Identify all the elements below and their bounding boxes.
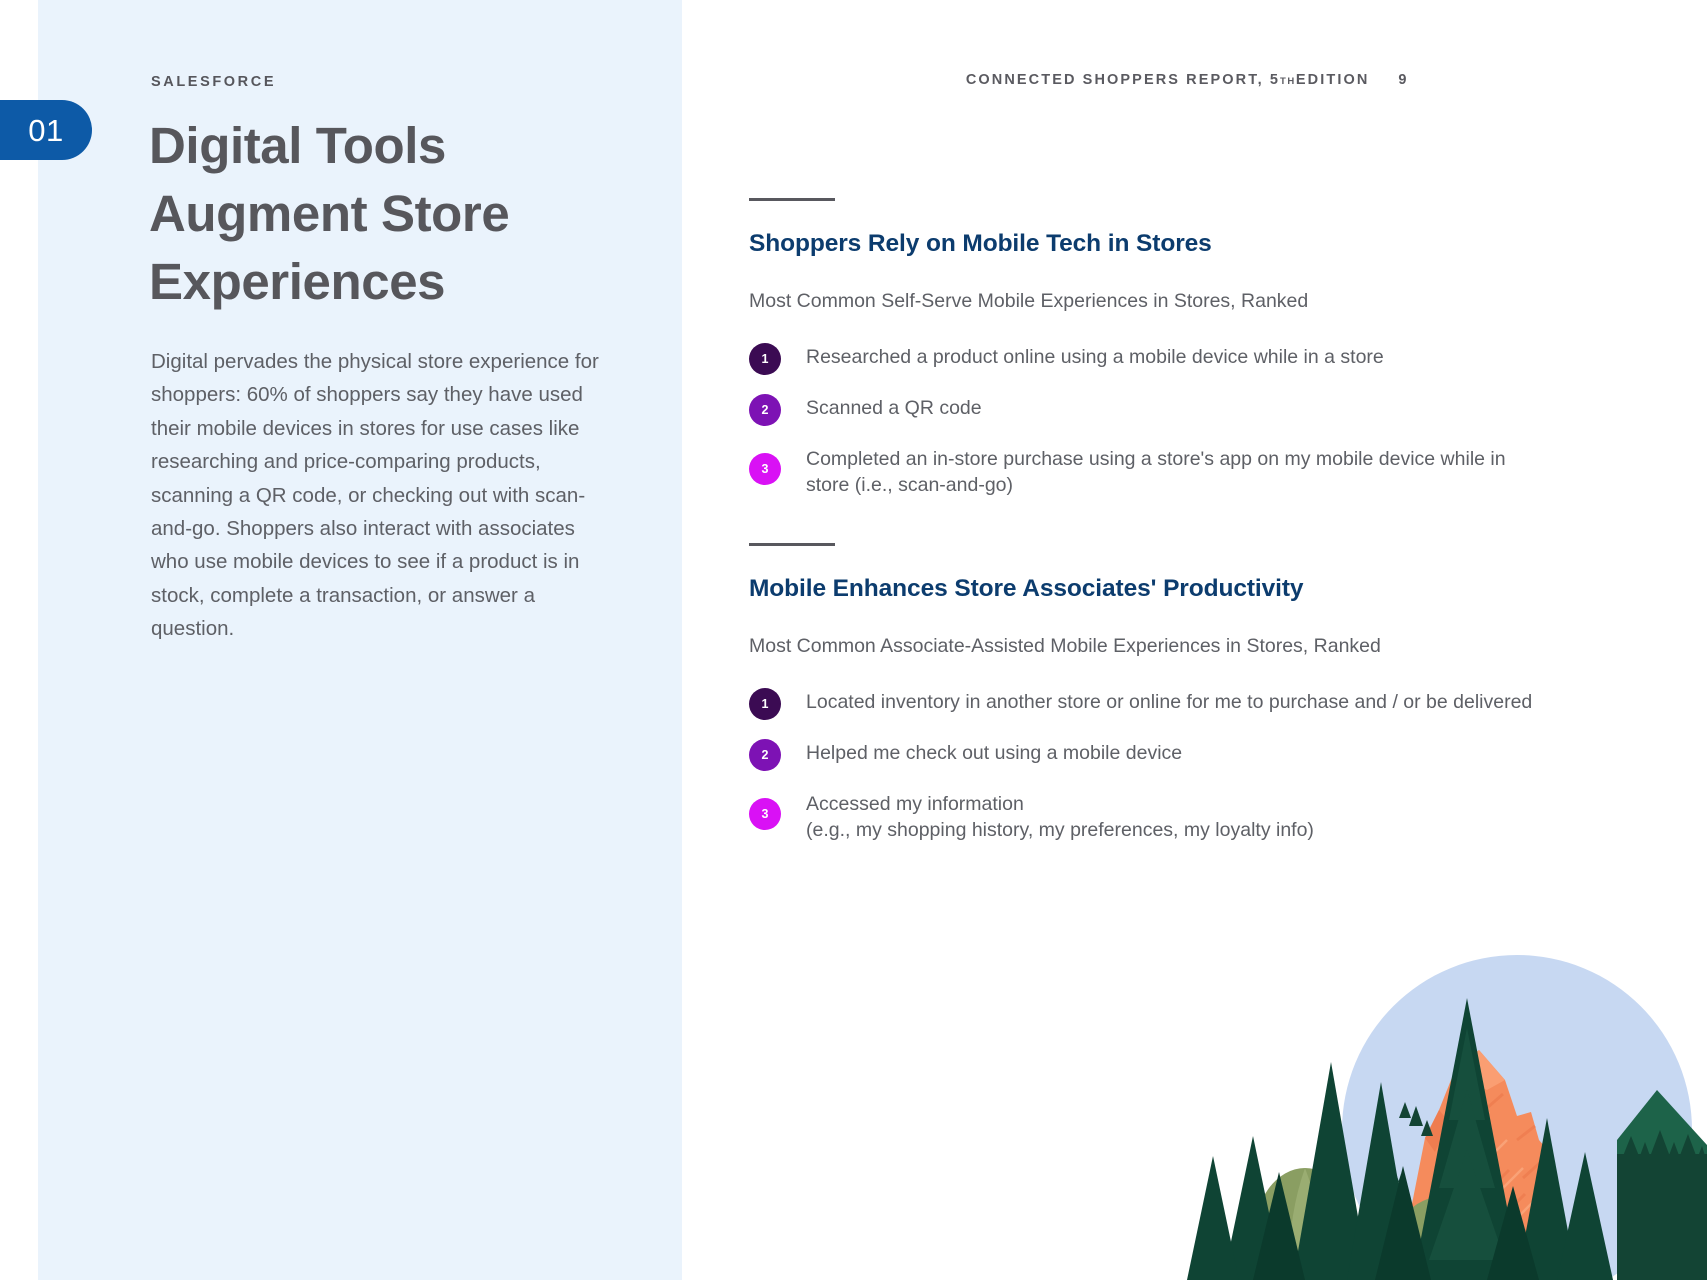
rank-badge: 2 (749, 739, 781, 771)
ordinal-suffix: TH (1280, 76, 1296, 87)
orange-rock-formation (1397, 1050, 1571, 1280)
list-item-label: Scanned a QR code (806, 393, 982, 421)
chapter-number-label: 01 (28, 115, 63, 146)
pine-trees (1187, 998, 1613, 1280)
list-item-label: Researched a product online using a mobi… (806, 342, 1384, 370)
list-item: 2 Helped me check out using a mobile dev… (749, 738, 1609, 771)
ridge-trees (1387, 1102, 1433, 1192)
chapter-number-badge: 01 (0, 100, 92, 160)
list-item: 3 Completed an in-store purchase using a… (749, 444, 1609, 498)
page-number: 9 (1398, 72, 1407, 88)
sky-circle (1342, 955, 1692, 1280)
section-rule (749, 198, 835, 201)
section-shoppers-mobile-tech: Shoppers Rely on Mobile Tech in Stores M… (749, 198, 1609, 498)
section-subtitle: Most Common Self-Serve Mobile Experience… (749, 288, 1609, 314)
ranked-list: 1 Located inventory in another store or … (749, 687, 1609, 843)
pine-texture (1429, 1028, 1505, 1260)
list-item-label: Helped me check out using a mobile devic… (806, 738, 1182, 766)
running-header-suffix: EDITION (1296, 72, 1370, 88)
right-forest (1617, 1130, 1707, 1280)
section-rule (749, 543, 835, 546)
section-subtitle: Most Common Associate-Assisted Mobile Ex… (749, 633, 1609, 659)
foreground-pines (1253, 1166, 1539, 1280)
rank-badge: 3 (749, 798, 781, 830)
brand-eyebrow: SALESFORCE (151, 74, 276, 90)
list-item-label: Accessed my information (e.g., my shoppi… (806, 789, 1314, 843)
section-associate-productivity: Mobile Enhances Store Associates' Produc… (749, 543, 1609, 843)
mountain-forest-illustration (1187, 940, 1707, 1280)
list-item: 1 Located inventory in another store or … (749, 687, 1609, 720)
ranked-list: 1 Researched a product online using a mo… (749, 342, 1609, 498)
report-page: 01 SALESFORCE Digital Tools Augment Stor… (0, 0, 1707, 1280)
olive-bushes (1253, 1168, 1503, 1280)
list-item: 1 Researched a product online using a mo… (749, 342, 1609, 375)
list-item: 3 Accessed my information (e.g., my shop… (749, 789, 1609, 843)
rank-badge: 2 (749, 394, 781, 426)
section-heading: Shoppers Rely on Mobile Tech in Stores (749, 229, 1609, 258)
tree-trunks (1327, 1176, 1546, 1280)
list-item-label: Completed an in-store purchase using a s… (806, 444, 1506, 498)
rank-badge: 1 (749, 343, 781, 375)
chapter-body-paragraph: Digital pervades the physical store expe… (151, 345, 603, 646)
page-title: Digital Tools Augment Store Experiences (149, 112, 579, 316)
list-item-label: Located inventory in another store or on… (806, 687, 1532, 715)
running-header-text: CONNECTED SHOPPERS REPORT, 5 (966, 72, 1280, 88)
section-heading: Mobile Enhances Store Associates' Produc… (749, 574, 1609, 603)
tree-branches (1313, 1208, 1483, 1254)
running-header: CONNECTED SHOPPERS REPORT, 5TH EDITION 9 (966, 72, 1407, 88)
rank-badge: 3 (749, 453, 781, 485)
rank-badge: 1 (749, 688, 781, 720)
far-hill (1617, 1090, 1707, 1280)
list-item: 2 Scanned a QR code (749, 393, 1609, 426)
